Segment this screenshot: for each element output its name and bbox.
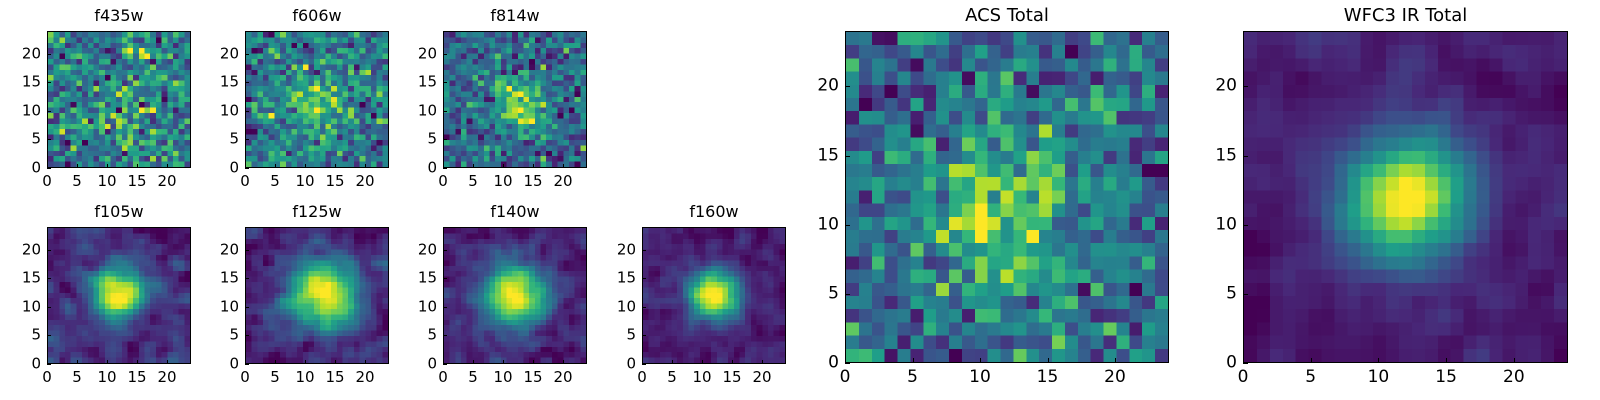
xticklabel-f140w-0: 0: [438, 368, 448, 387]
heatmap-axes-f606w: [245, 31, 389, 168]
yticklabel-wfc3-ir-total-15: 15: [1183, 145, 1237, 166]
yticklabel-acs-total-5: 5: [785, 283, 839, 304]
yticklabel-f160w-0: 0: [582, 355, 636, 374]
xticklabel-f435w-10: 10: [97, 172, 116, 191]
xticklabel-f160w-5: 5: [667, 368, 677, 387]
ytick-f814w-0: [443, 168, 447, 169]
yticklabel-f105w-20: 20: [0, 240, 41, 259]
heatmap-image-wfc3-ir-total: [1244, 32, 1567, 362]
xticklabel-wfc3-ir-total-0: 0: [1238, 367, 1249, 388]
xticklabel-wfc3-ir-total-20: 20: [1503, 367, 1525, 388]
ytick-f160w-20: [642, 250, 646, 251]
heatmap-axes-f814w: [443, 31, 587, 168]
xtick-f606w-5: [275, 164, 276, 168]
yticklabel-acs-total-15: 15: [785, 145, 839, 166]
panel-acs-total: ACS Total0510152005101520: [785, 5, 1169, 397]
ytick-f125w-20: [245, 250, 249, 251]
ytick-f435w-20: [47, 54, 51, 55]
ytick-f435w-5: [47, 139, 51, 140]
yticklabel-wfc3-ir-total-10: 10: [1183, 214, 1237, 235]
ytick-f435w-0: [47, 168, 51, 169]
ytick-f125w-0: [245, 364, 249, 365]
yticklabel-f160w-5: 5: [582, 326, 636, 345]
xtick-f125w-10: [305, 360, 306, 364]
yticklabel-f435w-0: 0: [0, 159, 41, 178]
ytick-f814w-5: [443, 139, 447, 140]
panel-wfc3-ir-total: WFC3 IR Total0510152005101520: [1183, 5, 1568, 397]
ytick-wfc3-ir-total-10: [1243, 225, 1248, 226]
xtick-f105w-5: [77, 360, 78, 364]
ytick-f160w-5: [642, 335, 646, 336]
xtick-f814w-15: [533, 164, 534, 168]
yticklabel-f435w-5: 5: [0, 130, 41, 149]
panel-title-f160w: f160w: [642, 201, 786, 223]
panel-title-f140w: f140w: [443, 201, 587, 223]
ytick-f606w-15: [245, 82, 249, 83]
ytick-f140w-10: [443, 307, 447, 308]
panel-f814w: f814w0510152005101520: [383, 5, 587, 202]
yticklabel-f140w-5: 5: [383, 326, 437, 345]
xtick-f606w-15: [335, 164, 336, 168]
xticklabel-f125w-15: 15: [325, 368, 344, 387]
ytick-f160w-0: [642, 364, 646, 365]
xticklabel-acs-total-0: 0: [840, 367, 851, 388]
yticklabel-wfc3-ir-total-0: 0: [1183, 353, 1237, 374]
xticklabel-f125w-0: 0: [240, 368, 250, 387]
heatmap-image-f160w: [643, 228, 785, 363]
xtick-wfc3-ir-total-5: [1311, 358, 1312, 363]
xticklabel-f814w-5: 5: [468, 172, 478, 191]
xtick-f140w-15: [533, 360, 534, 364]
xticklabel-f160w-0: 0: [637, 368, 647, 387]
xtick-f606w-10: [305, 164, 306, 168]
ytick-f606w-20: [245, 54, 249, 55]
xtick-f140w-10: [503, 360, 504, 364]
xtick-f435w-15: [137, 164, 138, 168]
heatmap-axes-wfc3-ir-total: [1243, 31, 1568, 363]
xtick-f160w-15: [732, 360, 733, 364]
yticklabel-f125w-20: 20: [185, 240, 239, 259]
xticklabel-f105w-0: 0: [42, 368, 52, 387]
ytick-acs-total-20: [845, 86, 850, 87]
ytick-acs-total-0: [845, 363, 850, 364]
heatmap-image-f140w: [444, 228, 586, 363]
ytick-f125w-10: [245, 307, 249, 308]
panel-f125w: f125w0510152005101520: [185, 201, 389, 398]
heatmap-axes-f435w: [47, 31, 191, 168]
heatmap-axes-f125w: [245, 227, 389, 364]
xtick-acs-total-20: [1115, 358, 1116, 363]
yticklabel-f435w-20: 20: [0, 44, 41, 63]
xticklabel-f606w-10: 10: [295, 172, 314, 191]
ytick-wfc3-ir-total-0: [1243, 363, 1248, 364]
xticklabel-f814w-0: 0: [438, 172, 448, 191]
xticklabel-f435w-20: 20: [157, 172, 176, 191]
yticklabel-f125w-0: 0: [185, 355, 239, 374]
xticklabel-f814w-20: 20: [553, 172, 572, 191]
xtick-f105w-15: [137, 360, 138, 364]
heatmap-image-f435w: [48, 32, 190, 167]
panel-title-f606w: f606w: [245, 5, 389, 27]
yticklabel-f125w-15: 15: [185, 269, 239, 288]
xtick-f160w-5: [672, 360, 673, 364]
xtick-f140w-20: [563, 360, 564, 364]
ytick-wfc3-ir-total-5: [1243, 294, 1248, 295]
xtick-f105w-20: [167, 360, 168, 364]
yticklabel-f160w-15: 15: [582, 269, 636, 288]
ytick-acs-total-5: [845, 294, 850, 295]
xtick-acs-total-5: [913, 358, 914, 363]
xtick-f160w-20: [762, 360, 763, 364]
xtick-f105w-10: [107, 360, 108, 364]
panel-title-f105w: f105w: [47, 201, 191, 223]
heatmap-axes-f140w: [443, 227, 587, 364]
yticklabel-wfc3-ir-total-20: 20: [1183, 76, 1237, 97]
xtick-f435w-5: [77, 164, 78, 168]
ytick-f140w-20: [443, 250, 447, 251]
xticklabel-f814w-15: 15: [523, 172, 542, 191]
panel-title-f814w: f814w: [443, 5, 587, 27]
yticklabel-f140w-0: 0: [383, 355, 437, 374]
ytick-f814w-10: [443, 111, 447, 112]
yticklabel-f105w-10: 10: [0, 297, 41, 316]
xticklabel-acs-total-15: 15: [1037, 367, 1059, 388]
ytick-f105w-10: [47, 307, 51, 308]
xticklabel-f125w-5: 5: [270, 368, 280, 387]
yticklabel-f606w-0: 0: [185, 159, 239, 178]
yticklabel-acs-total-10: 10: [785, 214, 839, 235]
ytick-f160w-15: [642, 278, 646, 279]
yticklabel-f105w-15: 15: [0, 269, 41, 288]
xticklabel-f435w-5: 5: [72, 172, 82, 191]
yticklabel-acs-total-20: 20: [785, 76, 839, 97]
ytick-acs-total-15: [845, 156, 850, 157]
xtick-acs-total-15: [1048, 358, 1049, 363]
ytick-acs-total-10: [845, 225, 850, 226]
panel-title-f125w: f125w: [245, 201, 389, 223]
xtick-f814w-5: [473, 164, 474, 168]
ytick-f125w-15: [245, 278, 249, 279]
yticklabel-f435w-15: 15: [0, 73, 41, 92]
ytick-wfc3-ir-total-20: [1243, 86, 1248, 87]
panel-f160w: f160w0510152005101520: [582, 201, 786, 398]
panel-f140w: f140w0510152005101520: [383, 201, 587, 398]
xticklabel-f105w-15: 15: [127, 368, 146, 387]
xticklabel-wfc3-ir-total-15: 15: [1435, 367, 1457, 388]
xticklabel-f606w-0: 0: [240, 172, 250, 191]
ytick-f105w-5: [47, 335, 51, 336]
yticklabel-f606w-20: 20: [185, 44, 239, 63]
xticklabel-f105w-20: 20: [157, 368, 176, 387]
xtick-f125w-5: [275, 360, 276, 364]
yticklabel-f814w-0: 0: [383, 159, 437, 178]
xticklabel-f814w-10: 10: [493, 172, 512, 191]
xticklabel-f160w-15: 15: [722, 368, 741, 387]
xtick-f140w-5: [473, 360, 474, 364]
xticklabel-f105w-5: 5: [72, 368, 82, 387]
xtick-f606w-20: [365, 164, 366, 168]
xticklabel-acs-total-10: 10: [969, 367, 991, 388]
yticklabel-f125w-5: 5: [185, 326, 239, 345]
xtick-wfc3-ir-total-15: [1446, 358, 1447, 363]
ytick-f140w-5: [443, 335, 447, 336]
xticklabel-f140w-10: 10: [493, 368, 512, 387]
ytick-f435w-15: [47, 82, 51, 83]
yticklabel-f814w-15: 15: [383, 73, 437, 92]
yticklabel-f140w-15: 15: [383, 269, 437, 288]
ytick-f160w-10: [642, 307, 646, 308]
xtick-f814w-10: [503, 164, 504, 168]
xticklabel-wfc3-ir-total-10: 10: [1368, 367, 1390, 388]
xticklabel-f606w-20: 20: [355, 172, 374, 191]
yticklabel-f814w-5: 5: [383, 130, 437, 149]
xticklabel-f140w-5: 5: [468, 368, 478, 387]
xtick-wfc3-ir-total-10: [1378, 358, 1379, 363]
xtick-acs-total-10: [980, 358, 981, 363]
xticklabel-f606w-5: 5: [270, 172, 280, 191]
heatmap-image-f606w: [246, 32, 388, 167]
panel-title-wfc3-ir-total: WFC3 IR Total: [1243, 5, 1568, 27]
ytick-f125w-5: [245, 335, 249, 336]
panel-title-f435w: f435w: [47, 5, 191, 27]
xticklabel-acs-total-20: 20: [1104, 367, 1126, 388]
xtick-f160w-10: [702, 360, 703, 364]
panel-f606w: f606w0510152005101520: [185, 5, 389, 202]
yticklabel-acs-total-0: 0: [785, 353, 839, 374]
xticklabel-wfc3-ir-total-5: 5: [1305, 367, 1316, 388]
ytick-f435w-10: [47, 111, 51, 112]
figure-canvas: f435w0510152005101520f606w05101520051015…: [0, 0, 1600, 400]
ytick-f606w-10: [245, 111, 249, 112]
ytick-f140w-15: [443, 278, 447, 279]
ytick-f606w-5: [245, 139, 249, 140]
panel-title-acs-total: ACS Total: [845, 5, 1169, 27]
panel-f105w: f105w0510152005101520: [0, 201, 191, 398]
panel-f435w: f435w0510152005101520: [0, 5, 191, 202]
yticklabel-f435w-10: 10: [0, 101, 41, 120]
yticklabel-f160w-10: 10: [582, 297, 636, 316]
yticklabel-wfc3-ir-total-5: 5: [1183, 283, 1237, 304]
yticklabel-f814w-10: 10: [383, 101, 437, 120]
heatmap-axes-acs-total: [845, 31, 1169, 363]
xtick-f125w-20: [365, 360, 366, 364]
yticklabel-f814w-20: 20: [383, 44, 437, 63]
xtick-f435w-20: [167, 164, 168, 168]
xticklabel-f125w-10: 10: [295, 368, 314, 387]
xticklabel-f105w-10: 10: [97, 368, 116, 387]
xticklabel-f435w-15: 15: [127, 172, 146, 191]
xticklabel-f435w-0: 0: [42, 172, 52, 191]
yticklabel-f606w-10: 10: [185, 101, 239, 120]
xticklabel-f140w-20: 20: [553, 368, 572, 387]
xticklabel-f160w-20: 20: [752, 368, 771, 387]
xtick-f125w-15: [335, 360, 336, 364]
xticklabel-f125w-20: 20: [355, 368, 374, 387]
heatmap-axes-f160w: [642, 227, 786, 364]
yticklabel-f606w-5: 5: [185, 130, 239, 149]
xticklabel-f140w-15: 15: [523, 368, 542, 387]
heatmap-image-f814w: [444, 32, 586, 167]
ytick-wfc3-ir-total-15: [1243, 156, 1248, 157]
xticklabel-acs-total-5: 5: [907, 367, 918, 388]
yticklabel-f105w-5: 5: [0, 326, 41, 345]
ytick-f105w-0: [47, 364, 51, 365]
ytick-f814w-20: [443, 54, 447, 55]
yticklabel-f140w-20: 20: [383, 240, 437, 259]
ytick-f105w-15: [47, 278, 51, 279]
heatmap-image-f125w: [246, 228, 388, 363]
xtick-f435w-10: [107, 164, 108, 168]
heatmap-image-f105w: [48, 228, 190, 363]
yticklabel-f105w-0: 0: [0, 355, 41, 374]
heatmap-axes-f105w: [47, 227, 191, 364]
xticklabel-f160w-10: 10: [692, 368, 711, 387]
ytick-f140w-0: [443, 364, 447, 365]
xticklabel-f606w-15: 15: [325, 172, 344, 191]
ytick-f105w-20: [47, 250, 51, 251]
yticklabel-f160w-20: 20: [582, 240, 636, 259]
yticklabel-f140w-10: 10: [383, 297, 437, 316]
ytick-f606w-0: [245, 168, 249, 169]
xtick-f814w-20: [563, 164, 564, 168]
xtick-wfc3-ir-total-20: [1514, 358, 1515, 363]
yticklabel-f125w-10: 10: [185, 297, 239, 316]
yticklabel-f606w-15: 15: [185, 73, 239, 92]
ytick-f814w-15: [443, 82, 447, 83]
heatmap-image-acs-total: [846, 32, 1168, 362]
